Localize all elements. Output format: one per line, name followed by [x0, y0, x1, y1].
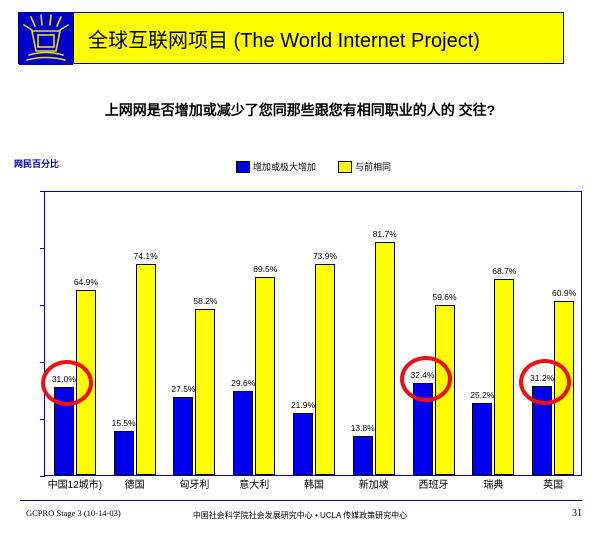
- chart-legend: 增加或极大增加 与前相同: [236, 160, 391, 173]
- bar-group: 31.2%60.9%英国: [532, 190, 574, 475]
- legend-item-increase: 增加或极大增加: [236, 160, 316, 173]
- bar-increase[interactable]: [413, 383, 433, 475]
- bar-group: 13.8%81.7%新加坡: [353, 190, 395, 475]
- footer-page-number: 31: [572, 508, 582, 519]
- bar-same[interactable]: [76, 290, 96, 475]
- bar-same[interactable]: [136, 264, 156, 475]
- bar-same[interactable]: [554, 301, 574, 475]
- y-axis-tick: [40, 191, 45, 192]
- bar-group: 25.2%68.7%瑞典: [472, 190, 514, 475]
- bar-value-label: 81.7%: [355, 229, 415, 239]
- legend-swatch-blue: [236, 161, 250, 173]
- bar-group: 32.4%59.6%西班牙: [413, 190, 455, 475]
- bar-value-label: 64.9%: [56, 277, 116, 287]
- bar-value-label: 59.6%: [415, 292, 475, 302]
- bar-increase[interactable]: [114, 431, 134, 475]
- title-text-container: 全球互联网项目 (The World Internet Project): [74, 13, 563, 63]
- bar-same[interactable]: [375, 242, 395, 475]
- bar-value-label: 68.7%: [474, 266, 534, 276]
- title-banner: 全球互联网项目 (The World Internet Project): [18, 12, 564, 64]
- bar-value-label: 60.9%: [534, 288, 594, 298]
- bar-increase[interactable]: [54, 387, 74, 475]
- bar-group: 27.5%58.2%匈牙利: [173, 190, 215, 475]
- x-axis-category-label: 英国: [493, 476, 600, 491]
- y-axis-tick: [40, 248, 45, 249]
- bar-same[interactable]: [255, 277, 275, 475]
- page-title: 全球互联网项目 (The World Internet Project): [88, 24, 480, 53]
- y-axis-tick: [40, 419, 45, 420]
- y-axis-caption: 网民百分比: [14, 157, 59, 170]
- bar-same[interactable]: [315, 264, 335, 475]
- bar-group: 15.5%74.1%德国: [114, 190, 156, 475]
- legend-swatch-yellow: [338, 161, 352, 173]
- monitor-icon: [19, 13, 74, 63]
- bar-increase[interactable]: [472, 403, 492, 475]
- plot-area: 31.0%64.9%中国12城市)15.5%74.1%德国27.5%58.2%匈…: [45, 192, 581, 475]
- bar-increase[interactable]: [293, 413, 313, 475]
- bar-group: 31.0%64.9%中国12城市): [54, 190, 96, 475]
- bar-same[interactable]: [195, 309, 215, 475]
- y-axis-tick: [40, 362, 45, 363]
- bar-increase[interactable]: [173, 397, 193, 475]
- legend-label-increase: 增加或极大增加: [253, 160, 316, 173]
- bar-increase[interactable]: [233, 391, 253, 475]
- bar-increase[interactable]: [353, 436, 373, 475]
- bar-group: 21.9%73.9%韩国: [293, 190, 335, 475]
- footer-center-text: 中国社会科学院社会发展研究中心 • UCLA 传媒政策研究中心: [0, 510, 600, 521]
- chart-question-subtitle: 上网网是否增加或减少了您同那些跟您有相同职业的人的 交往?: [0, 100, 600, 120]
- y-axis-tick: [40, 305, 45, 306]
- bar-value-label: 74.1%: [116, 251, 176, 261]
- bar-group: 29.6%69.5%意大利: [233, 190, 275, 475]
- bar-value-label: 73.9%: [295, 251, 355, 261]
- legend-item-same: 与前相同: [338, 160, 391, 173]
- bar-value-label: 69.5%: [235, 264, 295, 274]
- footer-divider: [20, 500, 582, 501]
- legend-label-same: 与前相同: [355, 160, 391, 173]
- bar-chart: 31.0%64.9%中国12城市)15.5%74.1%德国27.5%58.2%匈…: [44, 191, 582, 476]
- bar-increase[interactable]: [532, 386, 552, 475]
- bar-value-label: 58.2%: [175, 296, 235, 306]
